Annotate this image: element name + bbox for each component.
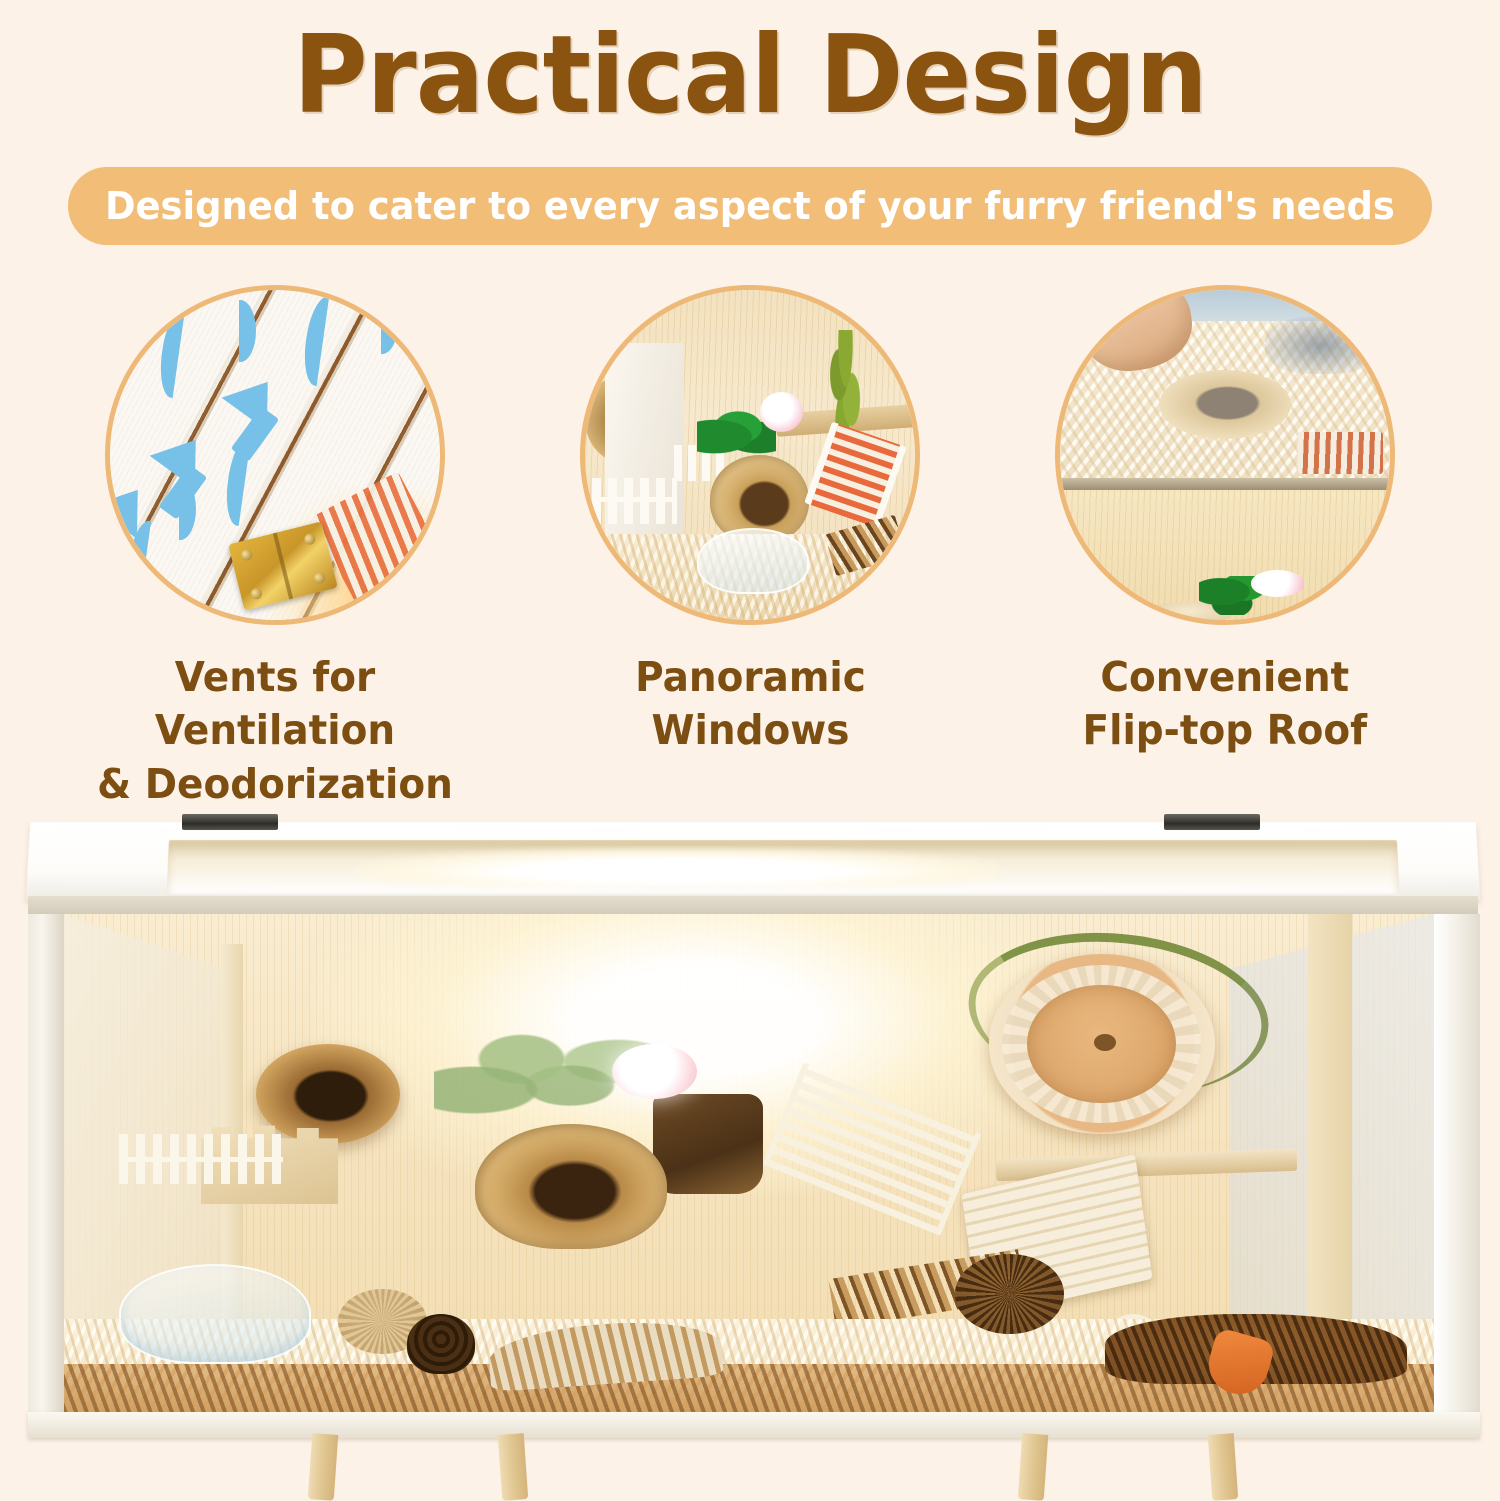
clear-glass-front-panel[interactable] — [64, 914, 1434, 1414]
feature-image-ventilation — [105, 285, 445, 625]
corner-post-left — [28, 914, 64, 1414]
wheel-hub — [1094, 1034, 1116, 1051]
cage-leg — [1018, 1433, 1049, 1501]
feature-image-flip-top-roof — [1055, 285, 1395, 625]
woven-tunnel-nest — [256, 1044, 400, 1144]
metal-hinge-left — [182, 814, 278, 830]
screw-icon — [313, 572, 326, 585]
white-picket-fence — [119, 1134, 283, 1184]
feature-label-line2: Flip-top Roof — [1083, 704, 1368, 757]
vine-ball — [955, 1254, 1065, 1334]
interior-back-wall — [1060, 490, 1390, 620]
feature-image-panoramic-windows — [580, 285, 920, 625]
open-roof-view — [1060, 290, 1390, 481]
glass-sand-bath-dome — [697, 528, 809, 594]
white-picket-fence — [1073, 591, 1126, 617]
feature-label-line1: Panoramic — [635, 651, 866, 704]
white-picket-fence — [592, 478, 678, 524]
feature-label-line2: Windows — [635, 704, 866, 757]
cage-leg — [498, 1433, 529, 1501]
subtitle-text: Designed to cater to every aspect of you… — [105, 184, 1395, 228]
feature-row: Vents for Ventilation & Deodorization — [0, 285, 1500, 785]
screw-icon — [240, 548, 253, 561]
glass-sand-bath-dome — [119, 1264, 311, 1364]
screw-icon — [304, 533, 317, 546]
feature-label-line1: Convenient — [1083, 651, 1368, 704]
acrylic-roof-panel — [1265, 317, 1377, 374]
pink-flower — [760, 392, 803, 432]
feature-label-panoramic-windows: Panoramic Windows — [635, 651, 866, 758]
feature-item-panoramic-windows[interactable]: Panoramic Windows — [555, 285, 945, 758]
screw-icon — [250, 587, 263, 600]
woven-nest — [1159, 370, 1291, 439]
woven-tunnel-nest — [475, 1124, 667, 1249]
feature-label-ventilation: Vents for Ventilation & Deodorization — [90, 651, 461, 811]
metal-hinge-right — [1164, 814, 1260, 830]
striped-accessory — [1298, 432, 1384, 474]
corner-post-right — [1434, 914, 1480, 1414]
cage-body — [28, 914, 1480, 1414]
cage-leg — [1208, 1433, 1239, 1501]
subtitle-banner: Designed to cater to every aspect of you… — [68, 167, 1432, 245]
feature-label-flip-top-roof: Convenient Flip-top Roof — [1083, 651, 1368, 758]
feature-item-flip-top-roof[interactable]: Convenient Flip-top Roof — [1030, 285, 1420, 758]
bottom-rail — [28, 1412, 1480, 1438]
feature-item-ventilation[interactable]: Vents for Ventilation & Deodorization — [80, 285, 470, 811]
page-title: Practical Design — [45, 18, 1455, 135]
pink-flower — [1251, 570, 1304, 596]
wood-stump-decor — [653, 1094, 763, 1194]
feature-label-line1: Vents for Ventilation — [90, 651, 461, 758]
cage-leg — [308, 1433, 339, 1501]
product-photo — [0, 800, 1500, 1500]
interior-light-glow — [357, 848, 998, 886]
white-flip-top-lid[interactable] — [26, 822, 1480, 900]
pine-cone — [407, 1314, 476, 1374]
pink-flower — [612, 1044, 697, 1099]
frame-rail — [1060, 478, 1390, 490]
